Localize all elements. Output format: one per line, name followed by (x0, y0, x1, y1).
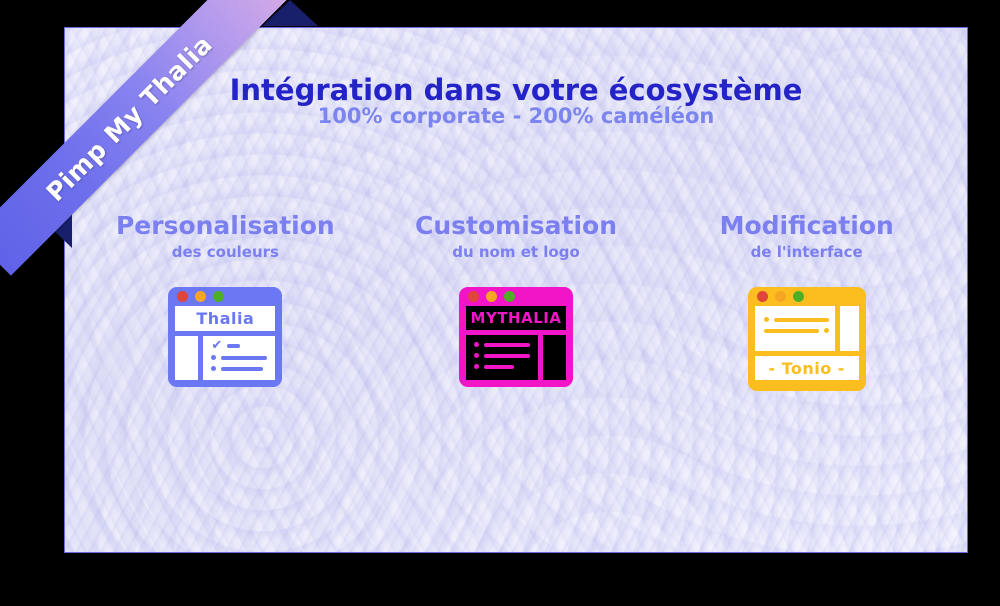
page-title: Intégration dans votre écosystème (64, 73, 968, 107)
column-subtitle: des couleurs (172, 243, 279, 261)
content-bar (227, 344, 240, 348)
column-icon-slot: Thalia ✔ (168, 287, 282, 407)
slide-surface: Intégration dans votre écosystème 100% c… (64, 27, 968, 553)
feature-column-customisation: Customisation du nom et logo MYTHALIA (371, 212, 662, 407)
window-content-pane (466, 335, 538, 380)
screenshot-canvas: Intégration dans votre écosystème 100% c… (0, 0, 1000, 606)
column-icon-slot: - Tonio - (748, 287, 866, 407)
traffic-light-red-icon (757, 291, 768, 302)
window-sidebar-pane (175, 336, 198, 380)
window-body: MYTHALIA (459, 306, 573, 387)
bullet-icon (474, 364, 479, 369)
traffic-light-orange-icon (486, 291, 497, 302)
content-bar (221, 367, 263, 371)
content-bar (484, 354, 530, 358)
traffic-light-red-icon (468, 291, 479, 302)
window-sidebar-pane (543, 335, 566, 380)
content-bar (484, 343, 530, 347)
content-bar (221, 356, 267, 360)
content-row-bullet (764, 328, 829, 333)
content-bar (774, 318, 829, 322)
feature-columns: Personalisation des couleurs Thalia (80, 212, 952, 407)
content-row-bullet (211, 355, 269, 360)
traffic-light-green-icon (504, 291, 515, 302)
column-subtitle: du nom et logo (452, 243, 580, 261)
browser-window-mythalia-icon: MYTHALIA (459, 287, 573, 387)
content-row-bullet (474, 342, 532, 347)
bullet-icon (211, 366, 216, 371)
content-row-bullet (764, 317, 829, 322)
column-title: Customisation (415, 212, 617, 239)
window-sidebar-pane (840, 306, 859, 351)
window-panes (466, 335, 566, 380)
browser-window-thalia-icon: Thalia ✔ (168, 287, 282, 387)
content-row-bullet (211, 366, 269, 371)
checkmark-icon: ✔ (211, 343, 222, 349)
bullet-icon (474, 353, 479, 358)
feature-column-modification: Modification de l'interface (661, 212, 952, 407)
window-label-tonio: - Tonio - (755, 356, 859, 380)
column-icon-slot: MYTHALIA (459, 287, 573, 407)
ribbon-fold-top (262, 0, 318, 26)
bullet-icon (764, 317, 769, 322)
column-subtitle: de l'interface (751, 243, 863, 261)
traffic-light-red-icon (177, 291, 188, 302)
content-row-check: ✔ (211, 343, 269, 349)
content-row-bullet (474, 353, 532, 358)
window-panes (755, 306, 859, 351)
column-title: Personalisation (116, 212, 335, 239)
content-bar (764, 329, 819, 333)
window-titlebar (168, 287, 282, 306)
window-body: - Tonio - (748, 306, 866, 387)
column-title: Modification (720, 212, 894, 239)
window-content-pane (755, 306, 835, 351)
traffic-light-green-icon (793, 291, 804, 302)
content-row-bullet (474, 364, 532, 369)
traffic-light-orange-icon (775, 291, 786, 302)
browser-window-tonio-icon: - Tonio - (748, 287, 866, 391)
window-label-thalia: Thalia (175, 306, 275, 331)
window-label-mythalia: MYTHALIA (466, 306, 566, 330)
window-content-pane: ✔ (203, 336, 275, 380)
traffic-light-green-icon (213, 291, 224, 302)
bullet-icon (474, 342, 479, 347)
bullet-icon (824, 328, 829, 333)
window-titlebar (459, 287, 573, 306)
bullet-icon (211, 355, 216, 360)
window-body: Thalia ✔ (168, 306, 282, 387)
feature-column-personalisation: Personalisation des couleurs Thalia (80, 212, 371, 407)
window-panes: ✔ (175, 336, 275, 380)
traffic-light-orange-icon (195, 291, 206, 302)
page-subtitle: 100% corporate - 200% caméléon (64, 104, 968, 128)
content-bar (484, 365, 514, 369)
window-titlebar (748, 287, 866, 306)
